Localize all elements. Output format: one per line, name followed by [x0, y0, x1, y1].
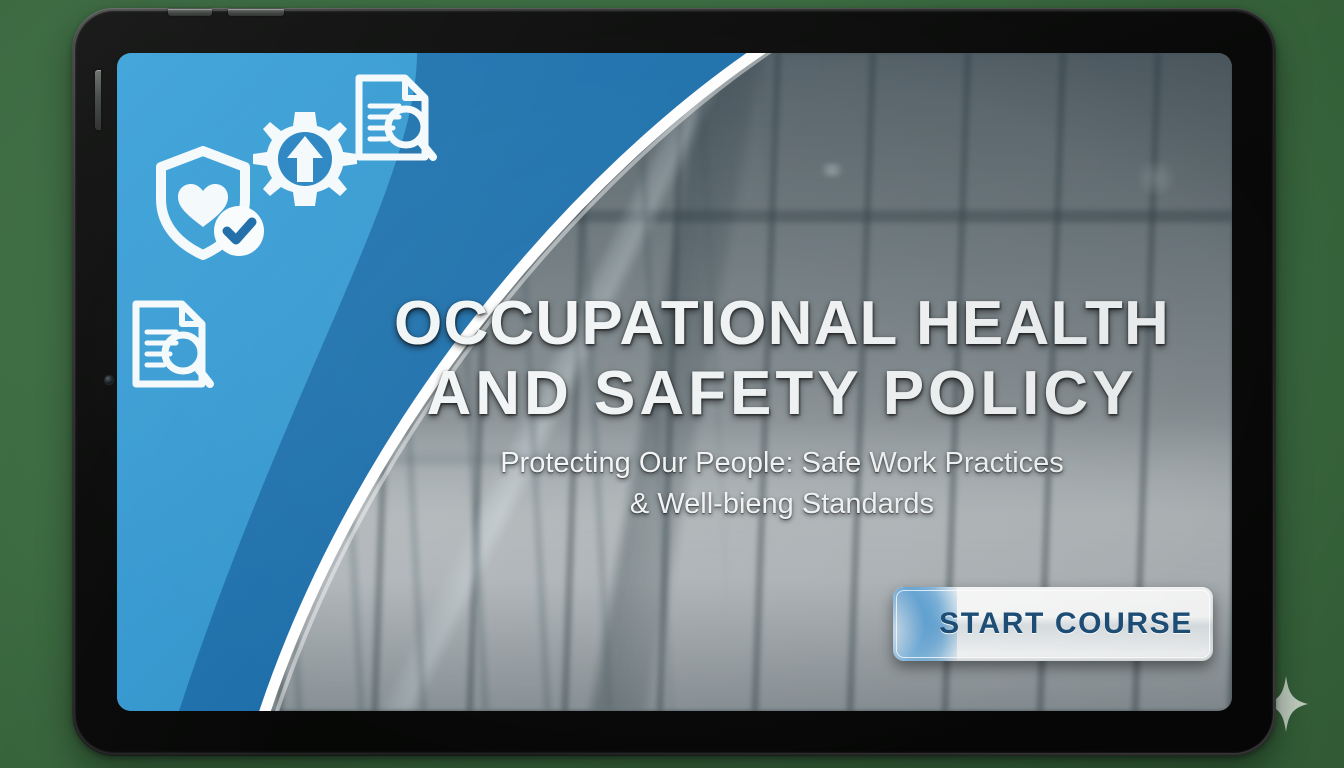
- slide-title-line-2: AND SAFETY POLICY: [367, 359, 1197, 429]
- front-camera: [105, 376, 113, 384]
- slide-subtitle-line-1: Protecting Our People: Safe Work Practic…: [367, 443, 1197, 484]
- title-block: OCCUPATIONAL HEALTH AND SAFETY POLICY Pr…: [367, 289, 1197, 525]
- document-search-icon: [349, 73, 439, 165]
- start-course-button[interactable]: START COURSE: [893, 587, 1213, 661]
- slide-subtitle-line-2: & Well-bieng Standards: [367, 484, 1197, 525]
- slide-stage: OCCUPATIONAL HEALTH AND SAFETY POLICY Pr…: [0, 0, 1344, 768]
- volume-down-button[interactable]: [228, 9, 284, 16]
- start-course-button-label: START COURSE: [939, 607, 1193, 641]
- document-search-icon: [125, 298, 217, 392]
- gear-arrow-up-icon: [250, 108, 360, 218]
- power-button[interactable]: [95, 70, 101, 130]
- tablet-device: OCCUPATIONAL HEALTH AND SAFETY POLICY Pr…: [72, 8, 1276, 756]
- tablet-screen: OCCUPATIONAL HEALTH AND SAFETY POLICY Pr…: [117, 53, 1232, 711]
- volume-up-button[interactable]: [168, 9, 212, 16]
- slide-title-line-1: OCCUPATIONAL HEALTH: [367, 289, 1197, 359]
